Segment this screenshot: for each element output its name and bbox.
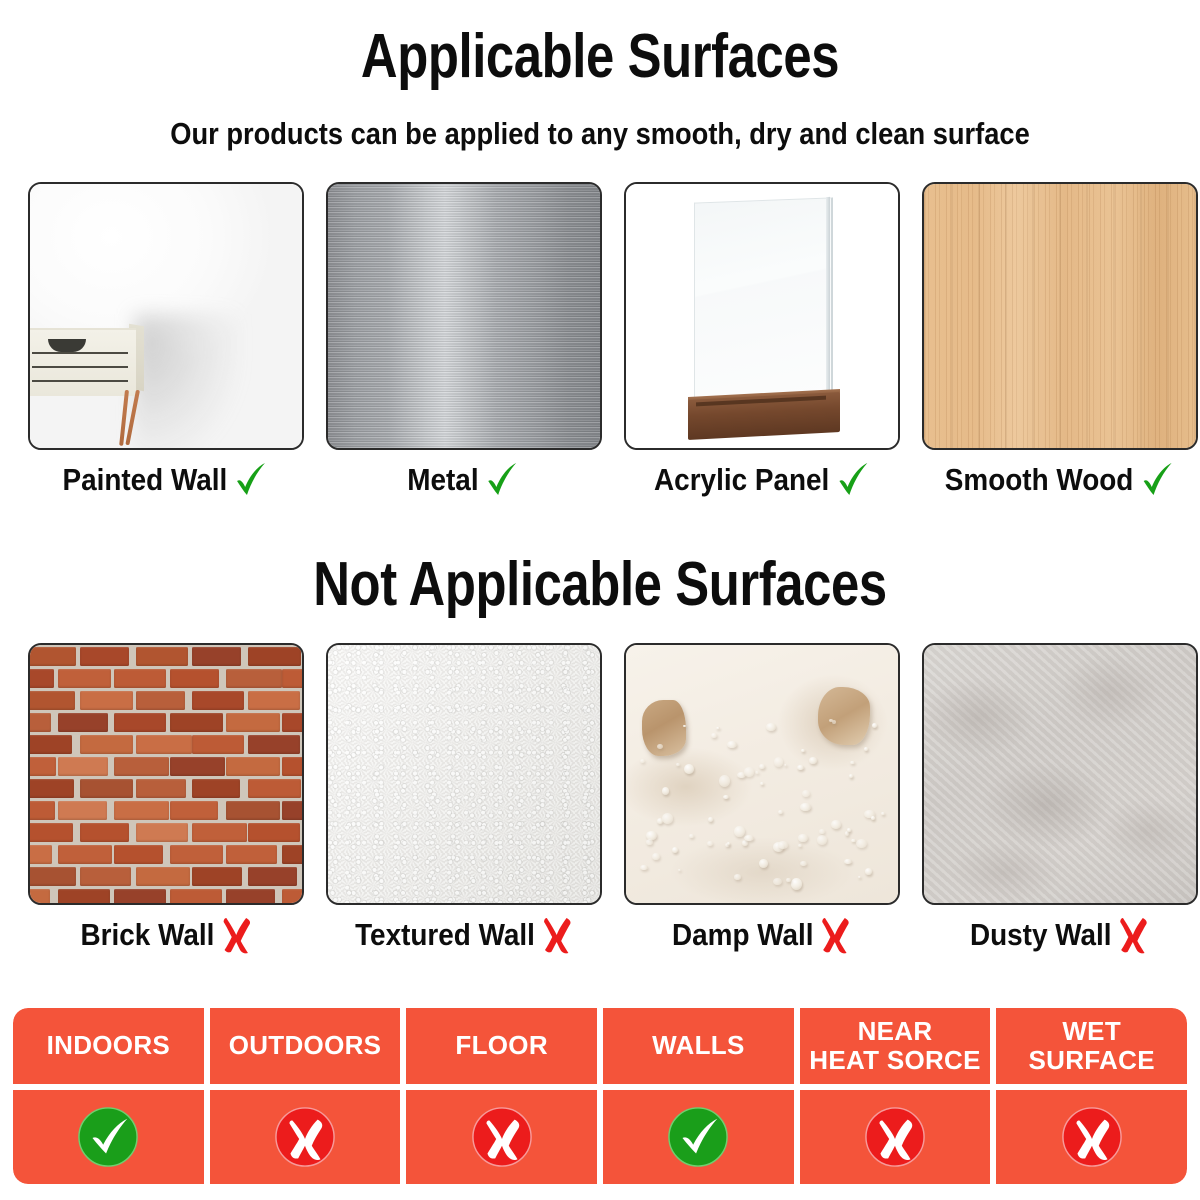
brick-course xyxy=(30,645,302,667)
brick-course xyxy=(30,689,302,711)
brick xyxy=(248,867,297,886)
matrix-status-cell[interactable] xyxy=(406,1090,597,1184)
brick xyxy=(30,691,75,710)
brick xyxy=(30,801,55,820)
brick-course xyxy=(30,755,302,777)
paint-blister xyxy=(802,790,810,797)
matrix-header-row: INDOORSOUTDOORSFLOORWALLSNEAR HEAT SORCE… xyxy=(13,1008,1187,1084)
surface-caption-dusty-wall: Dusty Wall xyxy=(970,915,1149,955)
brick-course xyxy=(30,821,302,843)
cabinet-groove xyxy=(32,352,128,354)
brick xyxy=(58,801,107,820)
x-circle-icon xyxy=(471,1106,533,1168)
paint-blister xyxy=(755,771,759,774)
brick xyxy=(226,713,280,732)
paint-blister xyxy=(784,764,787,767)
green-check-icon xyxy=(834,460,870,500)
brick xyxy=(282,845,302,864)
paint-blister xyxy=(640,759,645,763)
green-check-icon xyxy=(233,460,269,500)
paint-blister xyxy=(727,842,730,845)
red-cross-icon xyxy=(819,915,851,955)
check-circle-icon xyxy=(667,1106,729,1168)
paint-blister xyxy=(809,757,817,763)
brick xyxy=(192,867,242,886)
paint-blister xyxy=(778,841,787,848)
matrix-column-label: NEAR HEAT SORCE xyxy=(809,1017,981,1075)
matrix-header-cell[interactable]: INDOORS xyxy=(13,1008,204,1084)
paint-blister xyxy=(766,723,776,731)
paint-blister xyxy=(678,869,681,871)
matrix-column-label: INDOORS xyxy=(47,1031,170,1060)
matrix-header-cell[interactable]: OUTDOORS xyxy=(210,1008,401,1084)
paint-blister xyxy=(672,847,678,853)
brick xyxy=(170,713,223,732)
paint-blister xyxy=(819,829,825,834)
wall-shadow xyxy=(134,314,239,450)
light-oak-wood-texture xyxy=(924,184,1196,448)
brick xyxy=(114,801,169,820)
brick xyxy=(192,691,244,710)
red-cross-icon xyxy=(219,915,251,955)
paint-blister xyxy=(676,763,680,766)
surface-card-dusty-wall: Dusty Wall xyxy=(924,643,1196,955)
surface-caption-smooth-wood: Smooth Wood xyxy=(945,460,1175,500)
surface-image-dusty-wall xyxy=(922,643,1198,905)
brick xyxy=(170,757,225,776)
brick xyxy=(30,845,52,864)
paint-blister xyxy=(689,834,693,838)
brick xyxy=(80,779,133,798)
paint-blister xyxy=(829,719,833,722)
paint-blister xyxy=(773,878,782,885)
matrix-status-cell[interactable] xyxy=(210,1090,401,1184)
paint-blister xyxy=(744,767,754,776)
brick xyxy=(136,735,192,754)
paint-blister xyxy=(845,831,849,835)
paint-blister xyxy=(817,835,827,845)
paint-blister xyxy=(646,839,653,845)
paint-blister xyxy=(652,853,660,861)
brick xyxy=(136,647,188,666)
page-title-not-applicable: Not Applicable Surfaces xyxy=(108,554,1092,616)
brick xyxy=(80,691,133,710)
stucco-shading xyxy=(328,645,600,903)
paint-blister xyxy=(719,775,730,787)
brick xyxy=(248,691,300,710)
x-circle-icon xyxy=(864,1106,926,1168)
paint-blister xyxy=(832,720,836,724)
surface-card-textured-wall: Textured Wall xyxy=(328,643,600,955)
brick-course xyxy=(30,777,302,799)
brushed-metal-texture xyxy=(328,184,600,448)
surface-caption-damp-wall: Damp Wall xyxy=(672,915,851,955)
green-check-icon xyxy=(1139,460,1175,500)
matrix-header-cell[interactable]: FLOOR xyxy=(406,1008,597,1084)
paint-blister xyxy=(723,795,729,799)
page-title-applicable: Applicable Surfaces xyxy=(108,26,1092,88)
surface-card-acrylic-panel: Acrylic Panel xyxy=(626,182,898,500)
paint-blister xyxy=(865,868,873,875)
painted-wall-texture xyxy=(30,184,302,448)
matrix-status-row xyxy=(13,1090,1187,1184)
surface-label: Brick Wall xyxy=(80,918,214,952)
matrix-header-cell[interactable]: WALLS xyxy=(603,1008,794,1084)
paint-blister xyxy=(797,765,804,770)
usage-matrix-table: INDOORSOUTDOORSFLOORWALLSNEAR HEAT SORCE… xyxy=(13,1008,1187,1184)
brick xyxy=(226,801,280,820)
brick xyxy=(192,647,241,666)
red-brick-texture xyxy=(30,645,302,903)
brick xyxy=(58,669,111,688)
paint-blister xyxy=(856,839,867,848)
matrix-column-label: FLOOR xyxy=(455,1031,548,1060)
brick xyxy=(114,845,163,864)
matrix-column-label: OUTDOORS xyxy=(229,1031,382,1060)
brick xyxy=(30,889,50,903)
surface-image-textured-wall xyxy=(326,643,602,905)
brick xyxy=(80,823,129,842)
brick xyxy=(226,757,280,776)
paint-blister xyxy=(707,841,712,846)
brick-course xyxy=(30,843,302,865)
paint-blister xyxy=(734,826,745,837)
paint-blister xyxy=(786,878,790,882)
brick xyxy=(136,867,190,886)
paint-blister xyxy=(798,834,807,841)
paint-blister xyxy=(844,859,853,864)
paint-blister xyxy=(727,741,737,748)
brick xyxy=(58,845,112,864)
surface-caption-metal: Metal xyxy=(408,460,521,500)
paint-blister xyxy=(742,840,748,846)
paint-blister xyxy=(759,859,768,868)
paint-blister xyxy=(847,828,852,831)
check-circle-icon xyxy=(77,1106,139,1168)
gray-dusty-concrete-texture xyxy=(924,645,1196,903)
brick xyxy=(58,713,108,732)
surface-image-smooth-wood xyxy=(922,182,1198,450)
paint-blister xyxy=(640,865,648,871)
paint-blister xyxy=(800,803,811,811)
paint-blister xyxy=(744,835,754,841)
paint-blister xyxy=(872,723,877,728)
brick xyxy=(136,779,186,798)
brick xyxy=(30,757,56,776)
paint-blister xyxy=(774,757,783,767)
surface-image-painted-wall xyxy=(28,182,304,450)
surface-label: Acrylic Panel xyxy=(654,463,829,497)
brick xyxy=(170,669,219,688)
brick xyxy=(192,779,240,798)
brick xyxy=(248,647,301,666)
brick xyxy=(170,845,223,864)
surface-label: Damp Wall xyxy=(672,918,814,952)
brick xyxy=(248,779,301,798)
paint-peel-patch xyxy=(818,687,870,745)
paint-blister xyxy=(864,747,868,751)
surface-image-brick-wall xyxy=(28,643,304,905)
matrix-status-cell[interactable] xyxy=(603,1090,794,1184)
surface-image-acrylic-panel xyxy=(624,182,900,450)
brick xyxy=(248,823,300,842)
green-check-icon xyxy=(484,460,520,500)
acrylic-sheet-edge xyxy=(826,197,830,415)
matrix-column-label: WALLS xyxy=(652,1031,745,1060)
x-circle-icon xyxy=(1061,1106,1123,1168)
surface-card-damp-wall: Damp Wall xyxy=(626,643,898,955)
paint-blister xyxy=(831,820,842,829)
brick xyxy=(30,867,76,886)
paint-blister xyxy=(778,810,783,814)
paint-blister xyxy=(881,812,886,815)
surface-label: Metal xyxy=(408,463,479,497)
brick-course xyxy=(30,887,302,903)
brick xyxy=(58,889,110,903)
brick xyxy=(282,669,302,688)
paint-blister xyxy=(662,813,673,823)
paint-blister xyxy=(684,764,694,774)
brick xyxy=(30,823,73,842)
brick xyxy=(226,669,282,688)
matrix-header-cell[interactable]: NEAR HEAT SORCE xyxy=(800,1008,991,1084)
paint-blister xyxy=(800,861,807,866)
brick-course xyxy=(30,733,302,755)
not-applicable-surface-grid: Brick Wall Textured Wall Da xyxy=(30,643,1170,955)
brick xyxy=(282,801,302,820)
white-stucco-texture xyxy=(328,645,600,903)
surface-image-damp-wall xyxy=(624,643,900,905)
paint-blister xyxy=(801,749,805,752)
brick xyxy=(80,647,129,666)
brick xyxy=(114,713,166,732)
acrylic-sheet xyxy=(694,197,833,422)
brick xyxy=(192,735,244,754)
paint-blister xyxy=(791,878,802,890)
surface-card-brick-wall: Brick Wall xyxy=(30,643,302,955)
matrix-status-cell[interactable] xyxy=(800,1090,991,1184)
matrix-header-cell[interactable]: WET SURFACE xyxy=(996,1008,1187,1084)
surface-label: Painted Wall xyxy=(63,463,228,497)
cabinet-groove xyxy=(32,366,128,368)
x-circle-icon xyxy=(274,1106,336,1168)
brick-course xyxy=(30,711,302,733)
paint-peel-patch xyxy=(642,700,686,756)
matrix-status-cell[interactable] xyxy=(13,1090,204,1184)
applicable-surface-grid: Painted Wall Metal xyxy=(30,182,1170,500)
paint-blister xyxy=(716,727,720,730)
acrylic-panel-texture xyxy=(626,184,898,448)
brick xyxy=(248,735,300,754)
paint-blister xyxy=(850,761,855,764)
surface-caption-acrylic-panel: Acrylic Panel xyxy=(654,460,871,500)
brick xyxy=(282,713,302,732)
surface-card-metal: Metal xyxy=(328,182,600,500)
brick xyxy=(170,801,218,820)
brick xyxy=(30,669,54,688)
red-cross-icon xyxy=(540,915,572,955)
paint-blister xyxy=(711,733,717,737)
page-subtitle: Our products can be applied to any smoot… xyxy=(72,118,1128,149)
brick xyxy=(282,757,302,776)
paint-blister xyxy=(798,844,802,847)
paint-blister xyxy=(849,774,853,778)
paint-blister xyxy=(734,874,742,880)
brick-course xyxy=(30,799,302,821)
brick xyxy=(226,845,277,864)
red-cross-icon xyxy=(1117,915,1149,955)
paint-blister xyxy=(760,782,764,785)
brick xyxy=(282,889,302,903)
brick xyxy=(136,823,188,842)
brick xyxy=(136,691,185,710)
surface-caption-brick-wall: Brick Wall xyxy=(80,915,252,955)
brick xyxy=(192,823,247,842)
brick xyxy=(80,735,133,754)
paint-blister xyxy=(858,876,861,879)
surface-label: Smooth Wood xyxy=(945,463,1134,497)
paint-blister xyxy=(759,764,765,769)
surface-label: Dusty Wall xyxy=(970,918,1112,952)
matrix-column-label: WET SURFACE xyxy=(1029,1017,1155,1075)
peeling-damp-paint-texture xyxy=(626,645,898,903)
surface-card-smooth-wood: Smooth Wood xyxy=(924,182,1196,500)
brick xyxy=(114,669,166,688)
brick xyxy=(114,889,166,903)
matrix-status-cell[interactable] xyxy=(996,1090,1187,1184)
brick xyxy=(226,889,275,903)
brick xyxy=(80,867,131,886)
brick xyxy=(30,713,51,732)
surface-label: Textured Wall xyxy=(355,918,535,952)
surface-card-painted-wall: Painted Wall xyxy=(30,182,302,500)
paint-blister xyxy=(662,787,670,795)
brick xyxy=(170,889,222,903)
paint-blister xyxy=(871,816,876,820)
brick xyxy=(114,757,169,776)
brick-course xyxy=(30,667,302,689)
brick xyxy=(30,735,72,754)
brick xyxy=(30,647,76,666)
brick-course xyxy=(30,865,302,887)
cabinet-groove xyxy=(32,380,128,382)
surface-caption-textured-wall: Textured Wall xyxy=(355,915,573,955)
brick xyxy=(58,757,108,776)
surface-image-metal xyxy=(326,182,602,450)
paint-blister xyxy=(708,817,713,822)
surface-caption-painted-wall: Painted Wall xyxy=(63,460,269,500)
brick xyxy=(30,779,74,798)
